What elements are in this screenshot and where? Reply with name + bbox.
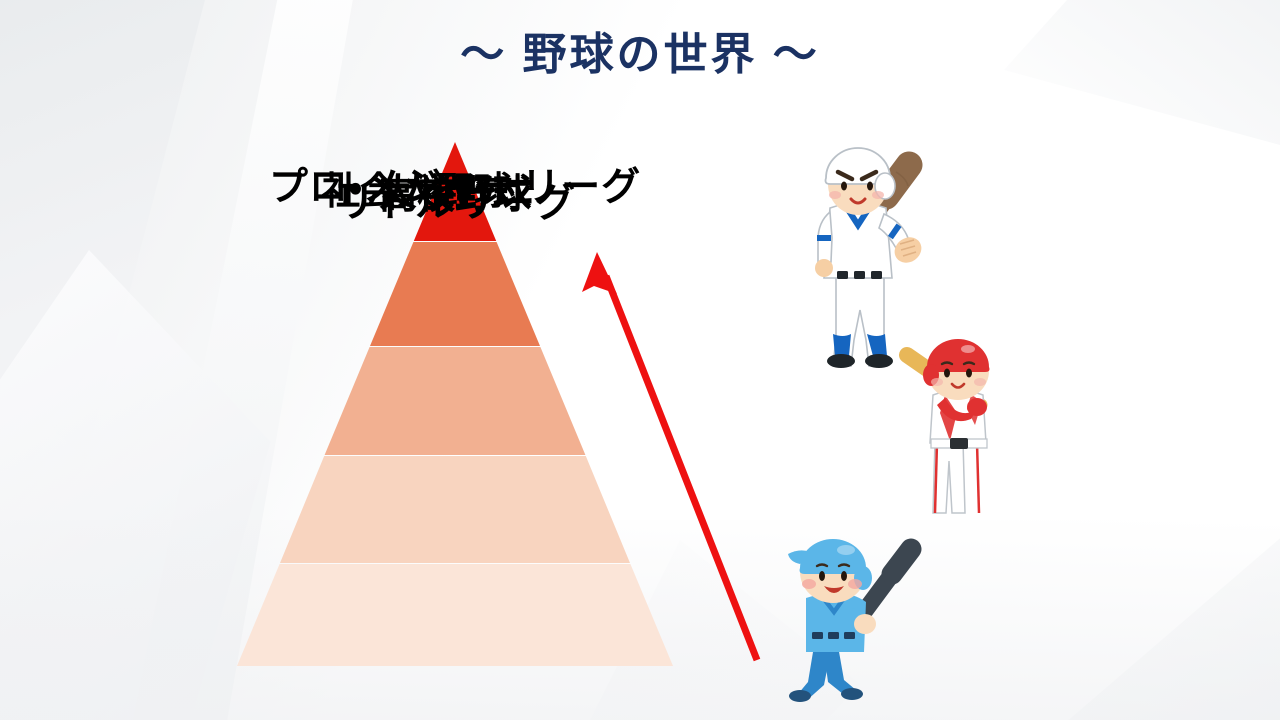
gloved-hands	[967, 398, 987, 416]
left-sock	[833, 334, 851, 356]
pyramid-tier-little-league-label: リトルリーグ	[237, 170, 673, 228]
pyramid-tier-little-league[interactable]	[237, 564, 673, 666]
helmet-icon	[800, 539, 867, 574]
baseball-level-pyramid: プロ・メジャーリーグ 社会人野球 大学野球 高校野球 リトルリーグ	[237, 142, 673, 666]
left-cleat	[827, 354, 855, 368]
pyramid-tier-university-shape	[237, 347, 673, 455]
pyramid-tier-highschool[interactable]	[237, 456, 673, 563]
pyramid-tier-university[interactable]	[237, 347, 673, 455]
left-sleeve-trim	[817, 235, 831, 241]
pyramid-tier-corporate-shape	[237, 242, 673, 346]
right-cleat	[865, 354, 893, 368]
page-title: 〜 野球の世界 〜	[0, 18, 1280, 82]
youth-baseball-player	[893, 333, 1023, 528]
pyramid-tier-corporate[interactable]	[237, 242, 673, 346]
slide-canvas: 〜 野球の世界 〜 プロ・メジャーリーグ 社会人野球 大学野球 高校野球	[0, 0, 1280, 720]
little-league-player	[766, 528, 926, 708]
pyramid-tier-little-league-shape	[237, 564, 673, 666]
left-hand	[815, 259, 833, 277]
hands	[854, 614, 876, 634]
belt-buckle	[950, 438, 968, 449]
pyramid-tier-highschool-shape	[237, 456, 673, 563]
